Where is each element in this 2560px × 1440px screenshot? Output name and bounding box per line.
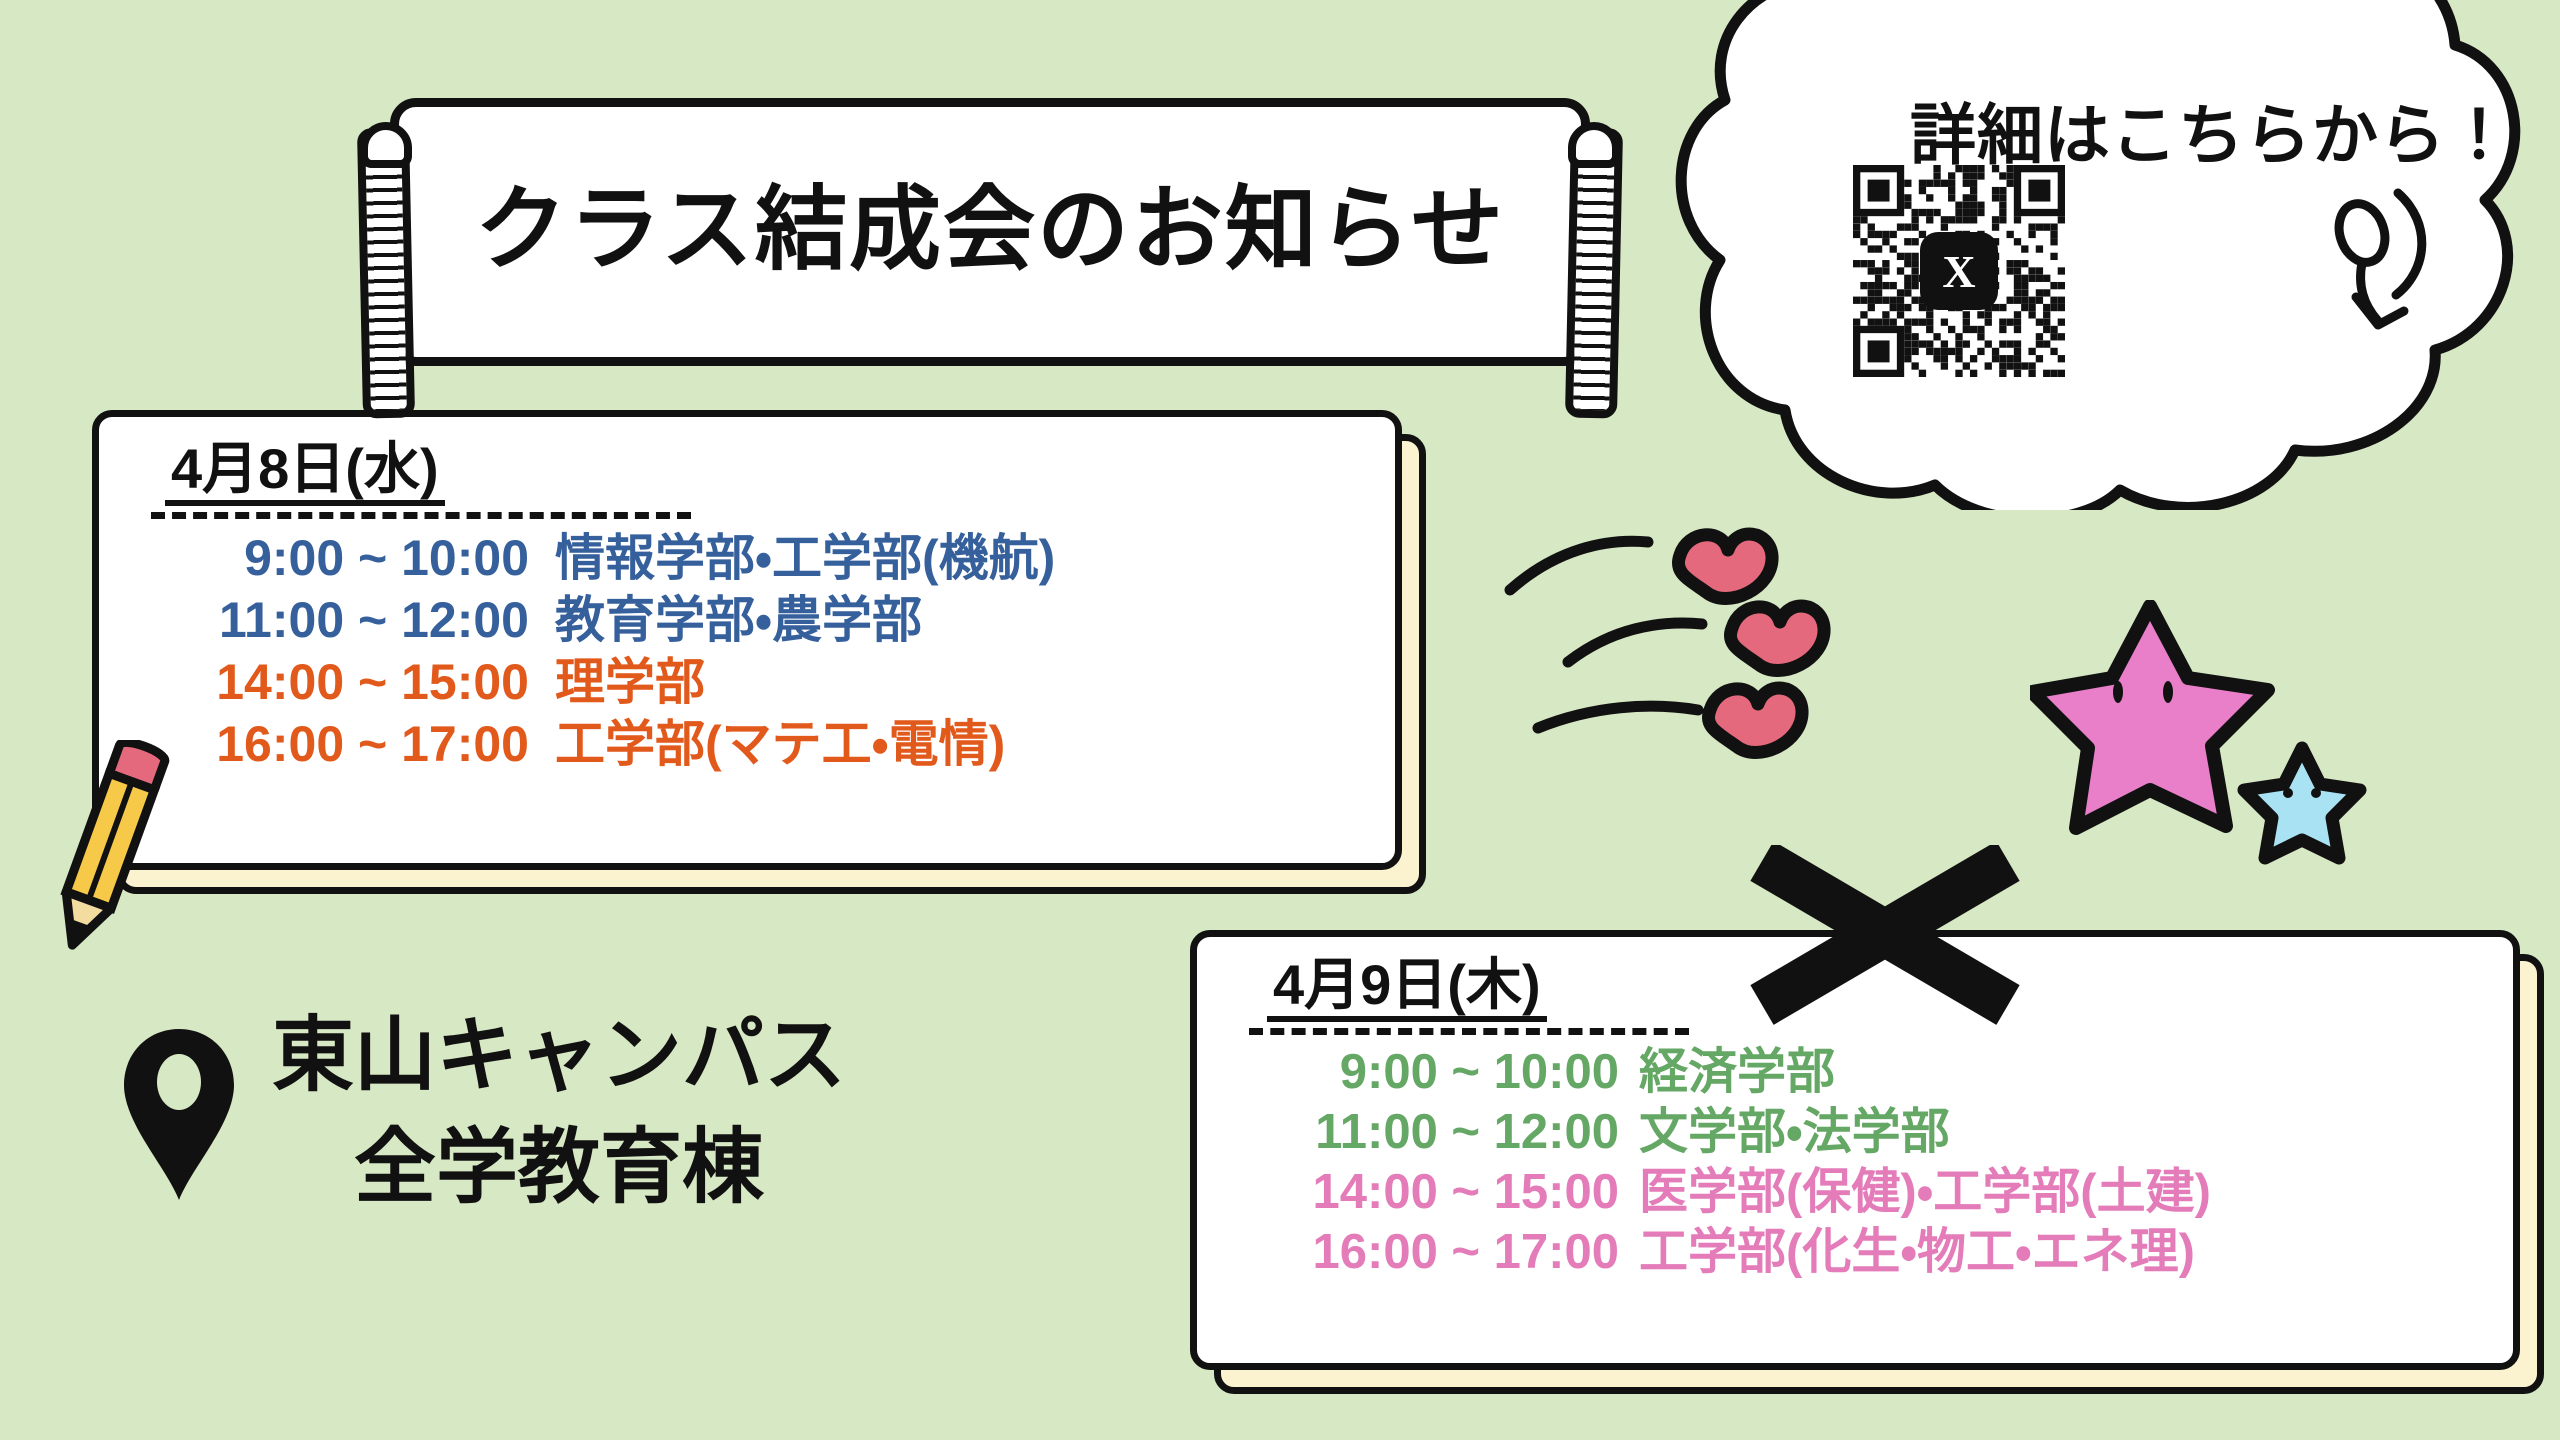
schedule-time: 14:00 ~ 15:00	[1227, 1163, 1619, 1223]
card-date-heading: 4月8日(水)	[165, 439, 445, 506]
card-dashed-divider	[151, 512, 691, 519]
schedule-row: 11:00 ~ 12:00文学部・法学部	[1227, 1103, 2483, 1163]
schedule-row: 11:00 ~ 12:00教育学部・農学部	[129, 589, 1365, 651]
schedule-department: 教育学部・農学部	[555, 589, 922, 651]
schedule-row: 9:00 ~ 10:00情報学部・工学部(機航)	[129, 527, 1365, 589]
location-text: 東山キャンパス 全学教育棟	[272, 1000, 846, 1223]
schedule-department: 工学部(化生・物工・エネ理)	[1639, 1223, 2195, 1283]
schedule-department: 工学部(マテ工・電情)	[555, 713, 1005, 775]
bubble-heading: 詳細はこちらから！	[1910, 82, 2550, 178]
schedule-time: 16:00 ~ 17:00	[1227, 1223, 1619, 1283]
location-line-2: 全学教育棟	[272, 1112, 846, 1224]
poster-canvas: クラス結成会のお知らせ 詳細はこちらから！ X 4月8日(水) 9:00 ~ 1…	[0, 0, 2560, 1440]
schedule-row: 14:00 ~ 15:00医学部(保健)・工学部(土建)	[1227, 1163, 2483, 1223]
heart-icon	[1500, 510, 1920, 830]
schedule-time: 14:00 ~ 15:00	[129, 651, 529, 713]
schedule-department: 文学部・法学部	[1639, 1103, 1950, 1163]
card-date-heading: 4月9日(木)	[1267, 955, 1547, 1022]
pencil-icon	[30, 740, 210, 970]
star-icon	[2030, 600, 2390, 900]
schedule-rows: 9:00 ~ 10:00経済学部11:00 ~ 12:00文学部・法学部14:0…	[1227, 1043, 2483, 1282]
title-banner-body: クラス結成会のお知らせ	[390, 98, 1590, 366]
banner-roll-left	[357, 127, 415, 418]
schedule-time: 11:00 ~ 12:00	[1227, 1103, 1619, 1163]
curly-arrow-icon	[2300, 175, 2450, 355]
banner-roll-cap-left	[360, 122, 412, 168]
schedule-department: 経済学部	[1639, 1043, 1835, 1103]
qr-x-logo-icon: X	[1920, 232, 1998, 310]
schedule-department: 情報学部・工学部(機航)	[555, 527, 1055, 589]
location-line-1: 東山キャンパス	[272, 1010, 846, 1101]
card-sheet: 4月8日(水) 9:00 ~ 10:00情報学部・工学部(機航)11:00 ~ …	[92, 410, 1402, 870]
map-pin-icon	[120, 1027, 238, 1202]
schedule-card-day1: 4月8日(水) 9:00 ~ 10:00情報学部・工学部(機航)11:00 ~ …	[92, 410, 1402, 870]
schedule-row: 9:00 ~ 10:00経済学部	[1227, 1043, 2483, 1103]
schedule-rows: 9:00 ~ 10:00情報学部・工学部(機航)11:00 ~ 12:00教育学…	[129, 527, 1365, 775]
schedule-time: 11:00 ~ 12:00	[129, 589, 529, 651]
schedule-row: 14:00 ~ 15:00理学部	[129, 651, 1365, 713]
page-title: クラス結成会のお知らせ	[475, 184, 1505, 276]
schedule-row: 16:00 ~ 17:00工学部(マテ工・電情)	[129, 713, 1365, 775]
location-block: 東山キャンパス 全学教育棟	[120, 1000, 846, 1223]
schedule-row: 16:00 ~ 17:00工学部(化生・物工・エネ理)	[1227, 1223, 2483, 1283]
banner-roll-right	[1565, 127, 1623, 418]
schedule-time: 9:00 ~ 10:00	[129, 527, 529, 589]
title-banner: クラス結成会のお知らせ	[360, 88, 1620, 378]
schedule-department: 医学部(保健)・工学部(土建)	[1639, 1163, 2211, 1223]
x-mark-icon	[1740, 845, 2030, 1025]
schedule-department: 理学部	[555, 651, 705, 713]
schedule-time: 9:00 ~ 10:00	[1227, 1043, 1619, 1103]
banner-roll-cap-right	[1568, 122, 1620, 168]
card-dashed-divider	[1249, 1028, 1689, 1035]
